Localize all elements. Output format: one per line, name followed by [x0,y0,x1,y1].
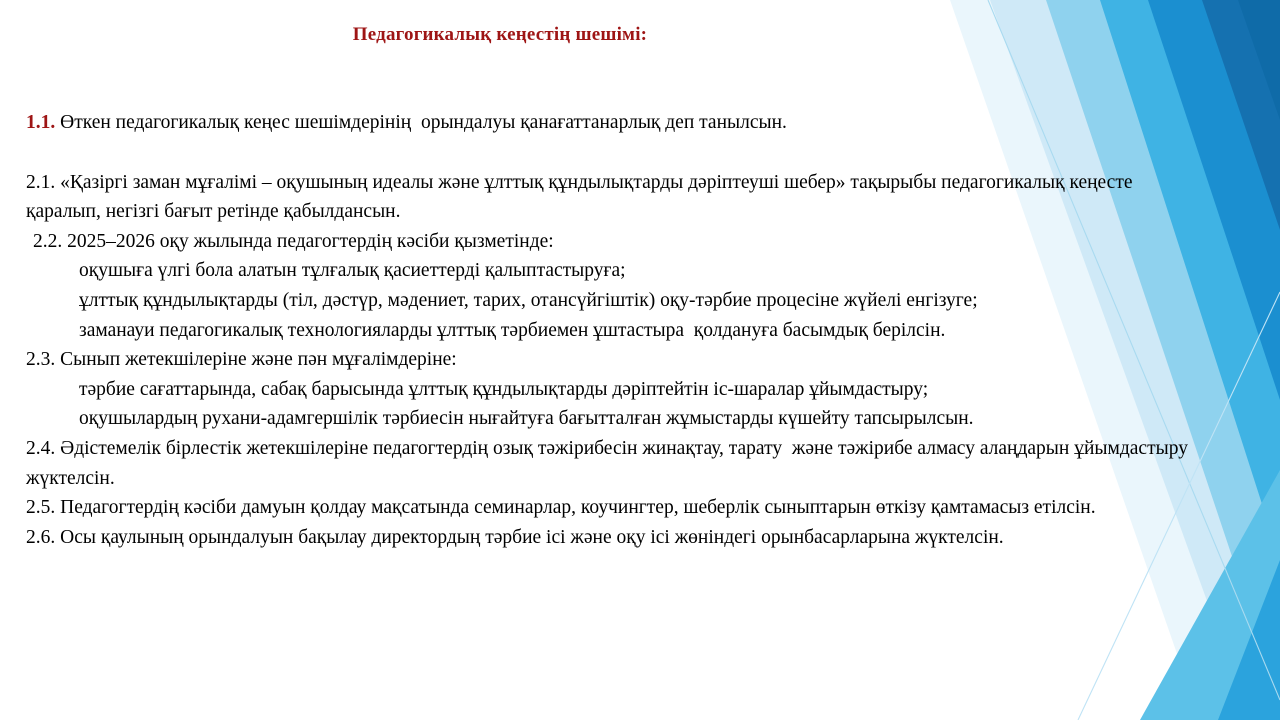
slide-canvas: Педагогикалық кеңестің шешімі: 1.1. Өтке… [0,0,1280,720]
slide-body: 1.1. Өткен педагогикалық кеңес шешімдері… [26,108,1191,552]
resolution-item-1-1-text: Өткен педагогикалық кеңес шешімдерінің о… [55,112,787,133]
resolution-item-2-5: 2.5. Педагогтердің кәсіби дамуын қолдау … [26,493,1191,523]
resolution-item-2-6: 2.6. Осы қаулының орындалуын бақылау дир… [26,523,1191,553]
resolution-item-2-3: 2.3. Сынып жетекшілеріне және пән мұғалі… [26,345,1191,375]
resolution-item-2-4: 2.4. Әдістемелік бірлестік жетекшілеріне… [26,434,1191,493]
resolution-item-1-1-number: 1.1. [26,112,55,133]
page-title: Педагогикалық кеңестің шешімі: [0,24,1000,46]
resolution-item-2-1: 2.1. «Қазіргі заман мұғалімі – оқушының … [26,168,1191,227]
resolution-item-2-2-sub-3: заманауи педагогикалық технологияларды ұ… [26,316,1191,346]
resolution-item-2-2: 2.2. 2025–2026 оқу жылында педагогтердің… [26,227,1191,257]
resolution-item-2-2-sub-2: ұлттық құндылықтарды (тіл, дәстүр, мәден… [26,286,1191,316]
resolution-item-2-3-sub-2: оқушылардың рухани-адамгершілік тәрбиесі… [26,404,1191,434]
resolution-item-1-1: 1.1. Өткен педагогикалық кеңес шешімдері… [26,108,1191,138]
decor-bottom-deep [1218,560,1280,720]
resolution-item-2-3-sub-1: тәрбие сағаттарында, сабақ барысында ұлт… [26,375,1191,405]
decor-topright-cap [1238,0,1280,120]
decor-dark-wedge [1202,0,1280,230]
resolution-item-2-2-sub-1: оқушыға үлгі бола алатын тұлғалық қасиет… [26,256,1191,286]
